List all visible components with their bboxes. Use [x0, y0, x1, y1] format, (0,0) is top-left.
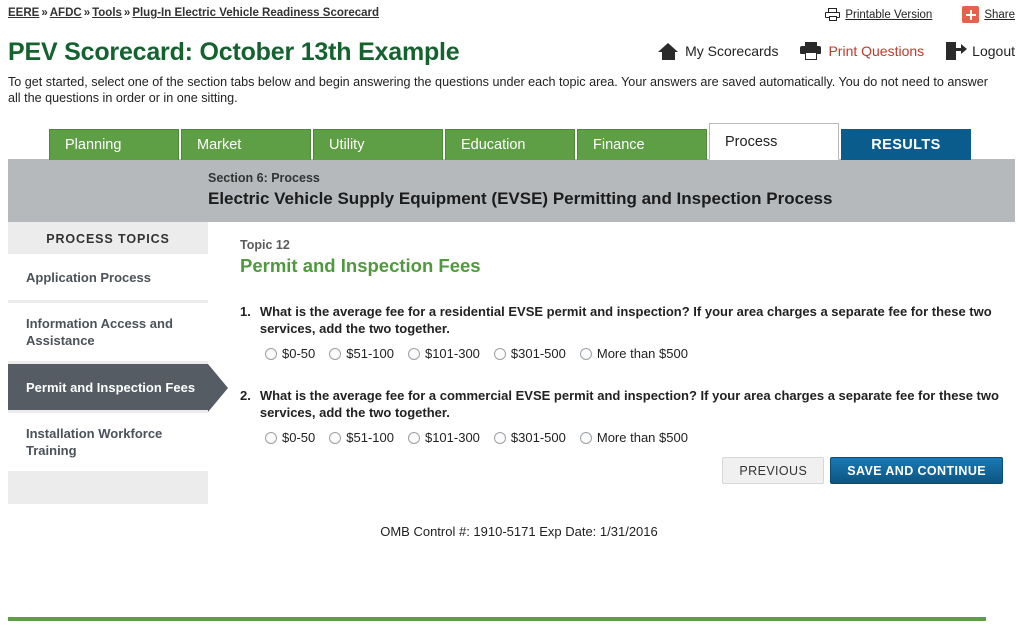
radio-button[interactable] [580, 348, 592, 360]
printer-icon [800, 42, 821, 60]
radio-button[interactable] [265, 348, 277, 360]
option-label: $101-300 [425, 346, 480, 361]
print-questions-label: Print Questions [828, 43, 924, 59]
tab-process[interactable]: Process [709, 123, 839, 160]
breadcrumb-separator: » [122, 7, 132, 19]
plus-icon [962, 6, 979, 23]
topic-kicker: Topic 12 [240, 238, 1003, 252]
breadcrumb-item-eere[interactable]: EERE [8, 7, 39, 19]
question-1-option-0[interactable]: $0-50 [265, 346, 315, 361]
breadcrumb-item-afdc[interactable]: AFDC [50, 7, 82, 19]
page-title: PEV Scorecard: October 13th Example [8, 38, 460, 67]
tab-market[interactable]: Market [181, 129, 311, 160]
question-2: 2. What is the average fee for a commerc… [240, 387, 1003, 421]
sidebar-heading: PROCESS TOPICS [8, 222, 208, 254]
question-2-options: $0-50 $51-100 $101-300 $301-500 More tha… [265, 430, 1003, 445]
logout-link[interactable]: Logout [946, 42, 1015, 60]
tab-utility[interactable]: Utility [313, 129, 443, 160]
option-label: More than $500 [597, 430, 688, 445]
radio-button[interactable] [329, 348, 341, 360]
header-action-links: My Scorecards Print Questions Logout [658, 42, 1015, 60]
breadcrumb-separator: » [82, 7, 92, 19]
option-label: $301-500 [511, 430, 566, 445]
form-actions: PREVIOUS SAVE AND CONTINUE [722, 457, 1003, 484]
print-questions-link[interactable]: Print Questions [800, 42, 924, 60]
question-1-option-2[interactable]: $101-300 [408, 346, 480, 361]
omb-control-text: OMB Control #: 1910-5171 Exp Date: 1/31/… [0, 524, 1023, 539]
my-scorecards-label: My Scorecards [685, 43, 778, 59]
utility-links: Printable Version Share [825, 6, 1015, 23]
option-label: $51-100 [346, 430, 394, 445]
printer-icon [825, 8, 840, 21]
save-and-continue-button[interactable]: SAVE AND CONTINUE [830, 457, 1003, 484]
question-1: 1. What is the average fee for a residen… [240, 303, 1003, 337]
question-1-text: What is the average fee for a residentia… [260, 303, 1003, 337]
option-label: More than $500 [597, 346, 688, 361]
section-kicker: Section 6: Process [208, 171, 1015, 185]
radio-button[interactable] [329, 432, 341, 444]
question-2-text: What is the average fee for a commercial… [260, 387, 1003, 421]
radio-button[interactable] [580, 432, 592, 444]
breadcrumb-item-tools[interactable]: Tools [92, 7, 122, 19]
sidebar-item-installation-workforce-training[interactable]: Installation Workforce Training [8, 413, 208, 471]
sidebar-item-permit-and-inspection-fees[interactable]: Permit and Inspection Fees [8, 364, 208, 410]
radio-button[interactable] [494, 348, 506, 360]
home-icon [658, 43, 678, 60]
question-1-option-1[interactable]: $51-100 [329, 346, 394, 361]
section-title: Electric Vehicle Supply Equipment (EVSE)… [208, 189, 1015, 209]
section-tab-bar: Planning Market Utility Education Financ… [0, 123, 1023, 160]
tab-results[interactable]: RESULTS [841, 129, 971, 160]
printable-version-link[interactable]: Printable Version [825, 8, 932, 21]
share-link[interactable]: Share [962, 6, 1015, 23]
breadcrumb-item-scorecard[interactable]: Plug-In Electric Vehicle Readiness Score… [132, 7, 379, 19]
question-2-option-3[interactable]: $301-500 [494, 430, 566, 445]
breadcrumb: EERE»AFDC»Tools»Plug-In Electric Vehicle… [8, 7, 379, 19]
section-header-band: Section 6: Process Electric Vehicle Supp… [8, 160, 1015, 222]
share-label: Share [984, 9, 1015, 21]
radio-button[interactable] [408, 348, 420, 360]
sidebar-item-information-access-and-assistance[interactable]: Information Access and Assistance [8, 303, 208, 361]
question-2-option-1[interactable]: $51-100 [329, 430, 394, 445]
previous-button[interactable]: PREVIOUS [722, 457, 824, 484]
breadcrumb-separator: » [39, 7, 49, 19]
footer-divider [8, 617, 986, 621]
tab-finance[interactable]: Finance [577, 129, 707, 160]
option-label: $0-50 [282, 346, 315, 361]
option-label: $51-100 [346, 346, 394, 361]
question-2-option-0[interactable]: $0-50 [265, 430, 315, 445]
intro-text: To get started, select one of the sectio… [8, 74, 993, 106]
topic-title: Permit and Inspection Fees [240, 255, 1003, 277]
my-scorecards-link[interactable]: My Scorecards [658, 43, 778, 60]
option-label: $301-500 [511, 346, 566, 361]
top-utility-bar: EERE»AFDC»Tools»Plug-In Electric Vehicle… [0, 0, 1023, 30]
tab-planning[interactable]: Planning [49, 129, 179, 160]
radio-button[interactable] [408, 432, 420, 444]
topic-content: Topic 12 Permit and Inspection Fees 1. W… [208, 222, 1015, 504]
topics-sidebar: PROCESS TOPICS Application Process Infor… [8, 222, 208, 504]
page-header: PEV Scorecard: October 13th Example My S… [0, 30, 1023, 74]
question-1-options: $0-50 $51-100 $101-300 $301-500 More tha… [265, 346, 1003, 361]
radio-button[interactable] [494, 432, 506, 444]
printable-version-label: Printable Version [845, 9, 932, 21]
question-2-option-2[interactable]: $101-300 [408, 430, 480, 445]
option-label: $101-300 [425, 430, 480, 445]
question-1-number: 1. [240, 303, 251, 337]
question-1-option-3[interactable]: $301-500 [494, 346, 566, 361]
question-1-option-4[interactable]: More than $500 [580, 346, 688, 361]
question-2-option-4[interactable]: More than $500 [580, 430, 688, 445]
radio-button[interactable] [265, 432, 277, 444]
tab-education[interactable]: Education [445, 129, 575, 160]
sidebar-item-application-process[interactable]: Application Process [8, 254, 208, 300]
logout-icon [946, 42, 965, 60]
logout-label: Logout [972, 43, 1015, 59]
section-body: PROCESS TOPICS Application Process Infor… [8, 222, 1015, 504]
option-label: $0-50 [282, 430, 315, 445]
question-2-number: 2. [240, 387, 251, 421]
